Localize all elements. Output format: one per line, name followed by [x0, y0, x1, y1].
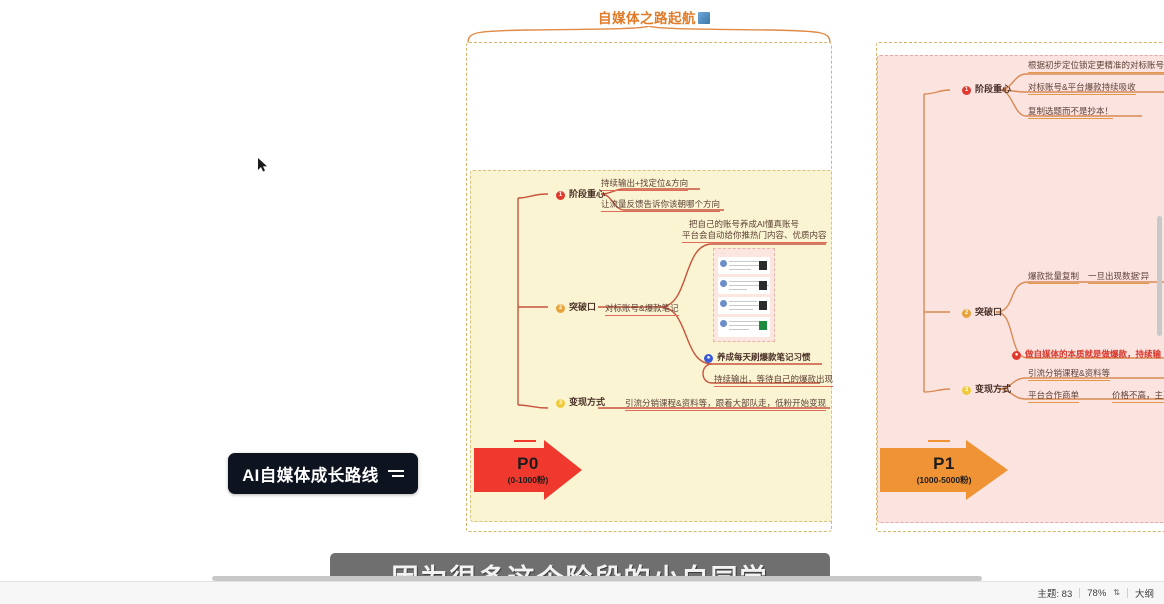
p1-branch-3-label[interactable]: 3变现方式: [962, 384, 1011, 395]
thumbnail-image: [759, 261, 767, 270]
chart-emoji: [698, 12, 710, 24]
topic-count-label: 主题: 83: [1037, 586, 1072, 600]
p1-branch-2-item-1[interactable]: 爆款批量复制: [1028, 271, 1079, 284]
p1-branch-3-item-1[interactable]: 引流分销课程&资料等: [1028, 368, 1110, 381]
badge-number-icon: 1: [962, 86, 971, 95]
phase-arrow-p0[interactable]: P0 (0-1000粉): [474, 440, 582, 500]
p1-branch-3-label-text: 变现方式: [975, 384, 1011, 394]
p1-branch-3-item-2[interactable]: 平台合作商单: [1028, 390, 1079, 403]
p1-branch-2-label[interactable]: 2突破口: [962, 307, 1002, 318]
thumbnail-image: [759, 281, 767, 290]
p0-branch-2-label[interactable]: 2突破口: [556, 302, 596, 313]
thumbnail-row: [718, 257, 770, 274]
mouse-cursor: [258, 158, 267, 172]
p0-branch-3-label[interactable]: 3变现方式: [556, 397, 605, 408]
phase-arrow-p0-range: (0-1000粉): [474, 474, 582, 486]
vertical-scrollbar[interactable]: [1157, 216, 1162, 336]
outline-toggle[interactable]: 大纲: [1135, 586, 1154, 600]
p0-branch-3-item-1[interactable]: 引流分销课程&资料等，跟着大部队走，低粉开始变现: [625, 398, 826, 411]
badge-dot-icon: ●: [1012, 351, 1021, 360]
p0-branch-2-item-2[interactable]: 把自己的账号养成AI懂真账号: [689, 219, 799, 230]
thumbnail-row: [718, 297, 770, 314]
avatar: [720, 260, 727, 267]
p0-branch-2-item-1[interactable]: 对标账号&爆款笔记: [605, 303, 679, 316]
avatar: [720, 300, 727, 307]
thumbnail-caption: ·····: [720, 251, 725, 255]
page-title-text: 自媒体之路起航: [598, 11, 696, 26]
zoom-level-label[interactable]: 78%: [1087, 588, 1106, 599]
p0-branch-2-item-5[interactable]: 持续输出，等待自己的爆款出现: [714, 374, 833, 387]
root-topic-node[interactable]: AI自媒体成长路线: [228, 453, 418, 494]
p0-branch-1-label-text: 阶段重心: [569, 189, 605, 199]
badge-number-icon: 2: [962, 309, 971, 318]
p1-branch-2-label-text: 突破口: [975, 307, 1002, 317]
note-screenshot-thumbnail[interactable]: ·····: [713, 248, 775, 342]
p1-branch-2-item-3[interactable]: ●做自媒体的本质就是做爆款，持续输: [1012, 349, 1161, 360]
p0-branch-1-item-2[interactable]: 让流量反馈告诉你该朝哪个方向: [601, 199, 720, 212]
avatar: [720, 280, 727, 287]
avatar: [720, 320, 727, 327]
p1-branch-2-item-2[interactable]: 一旦出现数据'异: [1088, 271, 1149, 284]
page-title: 自媒体之路起航: [598, 7, 710, 27]
p0-branch-2-item-4[interactable]: ●养成每天刷爆款笔记习惯: [704, 352, 811, 363]
p1-branch-2-item-3-text: 做自媒体的本质就是做爆款，持续输: [1025, 349, 1161, 359]
thumbnail-image: [759, 301, 767, 310]
divider: [1079, 588, 1080, 598]
phase-arrow-p1-label: P1: [880, 454, 1008, 474]
thumbnail-image: [759, 321, 767, 330]
badge-dot-icon: ●: [704, 354, 713, 363]
p1-branch-1-label-text: 阶段重心: [975, 84, 1011, 94]
root-topic-label: AI自媒体成长路线: [242, 462, 379, 486]
p0-branch-3-label-text: 变现方式: [569, 397, 605, 407]
p0-branch-1-label[interactable]: 1阶段重心: [556, 189, 605, 200]
badge-number-icon: 3: [556, 399, 565, 408]
divider: [1127, 588, 1128, 598]
p0-branch-2-label-text: 突破口: [569, 302, 596, 312]
thumbnail-row: [718, 277, 770, 294]
p1-branch-1-item-1[interactable]: 根据初步定位锁定更精准的对标账号: [1028, 60, 1164, 73]
thumbnail-row: [718, 317, 770, 337]
zoom-stepper-icon[interactable]: ⇅: [1113, 589, 1120, 597]
phase-arrow-p1-range: (1000-5000粉): [880, 474, 1008, 486]
mindmap-canvas[interactable]: 自媒体之路起航: [0, 0, 1164, 604]
phase-arrow-p0-label: P0: [474, 454, 582, 474]
p1-branch-1-item-2[interactable]: 对标账号&平台爆款持续吸收: [1028, 82, 1136, 95]
p0-branch-2-item-3[interactable]: 平台会自动给你推热门内容、优质内容: [682, 230, 827, 243]
p1-branch-1-label[interactable]: 1阶段重心: [962, 84, 1011, 95]
hamburger-icon[interactable]: [388, 467, 404, 480]
p1-branch-1-item-3[interactable]: 复制选题而不是抄本！: [1028, 106, 1113, 119]
status-bar: 主题: 83 78% ⇅ 大纲: [0, 581, 1164, 604]
phase-arrow-p1[interactable]: P1 (1000-5000粉): [880, 440, 1008, 500]
badge-number-icon: 1: [556, 191, 565, 200]
p0-branch-1-item-1[interactable]: 持续输出+找定位&方向: [601, 178, 688, 191]
p1-branch-3-item-3[interactable]: 价格不高，主要: [1112, 390, 1164, 403]
badge-number-icon: 2: [556, 304, 565, 313]
p0-branch-2-item-4-text: 养成每天刷爆款笔记习惯: [717, 352, 811, 362]
badge-number-icon: 3: [962, 386, 971, 395]
